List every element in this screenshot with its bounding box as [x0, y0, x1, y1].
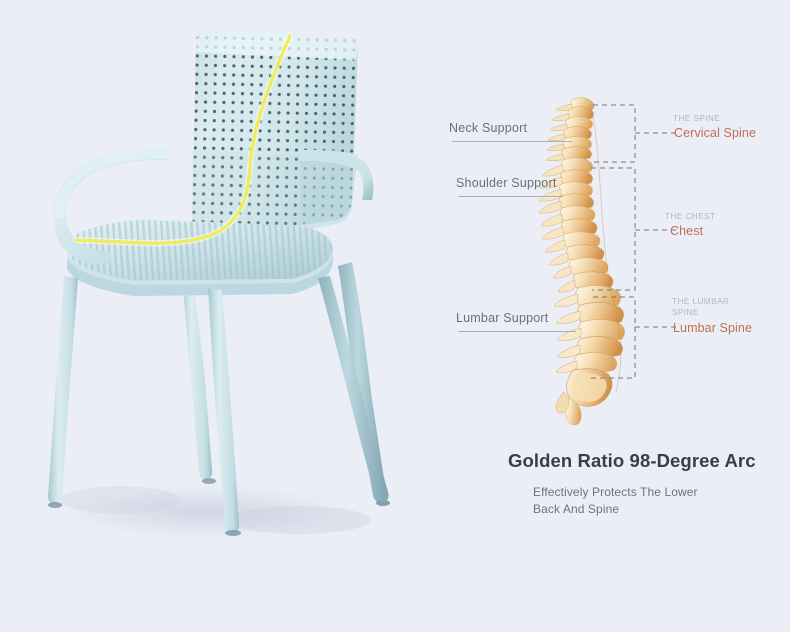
region-title-lumbar: THE LUMBAR SPINE: [672, 296, 729, 318]
leader-line-lumbar: [458, 331, 576, 332]
region-name-chest: Chest: [670, 224, 703, 238]
leg-front-left: [48, 276, 78, 504]
product-photo: [0, 0, 430, 632]
lumbar-vertebrae: [554, 285, 625, 372]
region-title-cervical: THE SPINE: [673, 113, 720, 124]
callout-headline: Golden Ratio 98-Degree Arc: [508, 450, 756, 472]
region-name-cervical: Cervical Spine: [674, 126, 756, 140]
infographic-canvas: Neck Support Shoulder Support Lumbar Sup…: [0, 0, 790, 632]
support-label-lumbar: Lumbar Support: [456, 311, 548, 325]
callout-subline: Effectively Protects The Lower Back And …: [533, 484, 698, 518]
region-name-lumbar: Lumbar Spine: [673, 321, 752, 335]
spine-column: [539, 98, 625, 426]
leader-line-neck: [452, 141, 572, 142]
region-title-chest: THE CHEST: [665, 211, 715, 222]
bracket-cervical: [593, 105, 635, 162]
spine-diagram: Neck Support Shoulder Support Lumbar Sup…: [430, 0, 790, 632]
sacrum-coccyx: [556, 369, 612, 425]
support-label-neck: Neck Support: [449, 121, 527, 135]
cervical-vertebrae: [546, 98, 594, 161]
support-label-shoulder: Shoulder Support: [456, 176, 557, 190]
leader-line-shoulder: [458, 196, 563, 197]
